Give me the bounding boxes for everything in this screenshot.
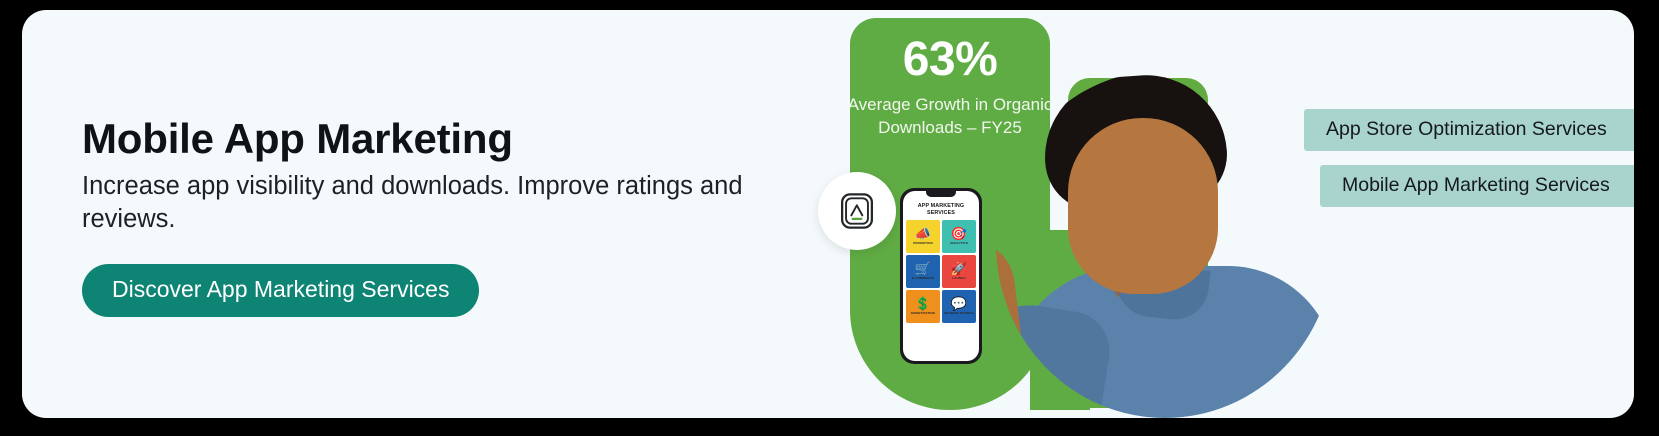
hero-graphic: 63% Average Growth in Organic Downloads …: [800, 10, 1220, 418]
chip-app-store-optimization-services[interactable]: App Store Optimization Services: [1304, 109, 1634, 151]
phone-mockup: APP MARKETING SERVICES 📣PROMOTION🎯ANALYT…: [900, 188, 982, 364]
phone-tile: 💬REVIEWS RATINGS: [942, 290, 976, 323]
phone-tile-icon: 🎯: [951, 227, 967, 240]
phone-tile-icon: 💲: [915, 297, 931, 310]
app-store-icon: [836, 190, 878, 232]
phone-screen: APP MARKETING SERVICES 📣PROMOTION🎯ANALYT…: [903, 191, 979, 361]
page-title: Mobile App Marketing: [82, 115, 782, 162]
chip-mobile-app-marketing-services[interactable]: Mobile App Marketing Services: [1320, 165, 1634, 207]
stat-value: 63%: [850, 32, 1050, 87]
phone-tile-icon: 💬: [951, 297, 967, 310]
face: [1068, 118, 1218, 294]
phone-tile: 📣PROMOTION: [906, 220, 940, 253]
phone-tile-caption: LAUNCH: [952, 276, 965, 280]
phone-notch: [926, 191, 956, 197]
phone-tile-caption: E-COMMERCE: [912, 276, 934, 280]
app-store-badge: [818, 172, 896, 250]
phone-tile-icon: 🚀: [951, 262, 967, 275]
phone-tile: 💲MONETIZATION: [906, 290, 940, 323]
page-subtitle: Increase app visibility and downloads. I…: [82, 170, 772, 236]
phone-tile-caption: REVIEWS RATINGS: [944, 311, 974, 315]
phone-tile-grid: 📣PROMOTION🎯ANALYTICS🛒E-COMMERCE🚀LAUNCH💲M…: [906, 220, 976, 323]
phone-tile-caption: PROMOTION: [913, 241, 933, 245]
copy-block: Mobile App Marketing Increase app visibi…: [82, 115, 782, 317]
phone-tile-caption: MONETIZATION: [911, 311, 935, 315]
phone-tile-caption: ANALYTICS: [950, 241, 968, 245]
stat-caption: Average Growth in Organic Downloads – FY…: [842, 94, 1058, 140]
service-chip-stack: App Store Optimization Services Mobile A…: [1304, 109, 1634, 207]
marketing-banner-card: Mobile App Marketing Increase app visibi…: [22, 10, 1634, 418]
person-photo: [996, 70, 1334, 418]
phone-tile: 🛒E-COMMERCE: [906, 255, 940, 288]
phone-tile-icon: 📣: [915, 227, 931, 240]
phone-tile: 🎯ANALYTICS: [942, 220, 976, 253]
phone-app-title: APP MARKETING SERVICES: [906, 194, 976, 217]
discover-app-marketing-services-button[interactable]: Discover App Marketing Services: [82, 264, 479, 316]
phone-tile: 🚀LAUNCH: [942, 255, 976, 288]
phone-tile-icon: 🛒: [915, 262, 931, 275]
